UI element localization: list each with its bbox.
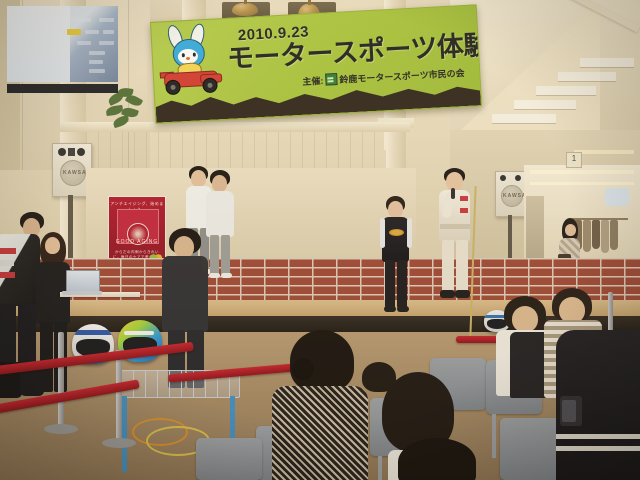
driver-suit-logo (389, 229, 404, 236)
right-ceiling-lights (574, 150, 634, 154)
barrier-post-base (44, 424, 78, 434)
laptop-base (62, 291, 102, 295)
leathers-sponsor-patch (0, 260, 14, 266)
leathers-sponsor-patch (0, 272, 15, 278)
poster-brand: GOOD AGING (109, 239, 165, 245)
chair[interactable] (500, 418, 564, 480)
suit-belt (440, 224, 470, 229)
race-car-icon (160, 65, 223, 94)
presentation-tv[interactable]: SONY (0, 0, 127, 99)
speaker-left-label: KAWSA (63, 170, 87, 176)
potted-plant (104, 88, 144, 134)
barrier-post-base (102, 438, 136, 448)
organizer-logo-icon (325, 73, 338, 86)
photo-scene: 2010.9.23 モータースポーツ体験フェア 主催:鈴鹿モータースポーツ市民の… (0, 0, 640, 480)
mirror-panel (526, 196, 544, 258)
mascot-icon (157, 27, 223, 98)
store-ceiling-light-2 (530, 182, 634, 185)
garment (610, 220, 618, 250)
store-number-sign: 1 (566, 152, 582, 168)
good-aging-poster: アンチエイジング、始めましょう。 GOOD AGING からだの内側からきれいに… (108, 196, 166, 266)
bell-left-icon (232, 3, 258, 16)
jacket-stripe (556, 434, 640, 439)
tv-highlight-cell (67, 29, 81, 35)
phone-icon (562, 400, 576, 422)
event-banner: 2010.9.23 モータースポーツ体験フェア 主催:鈴鹿モータースポーツ市民の… (150, 4, 482, 124)
chair[interactable] (196, 438, 262, 480)
suit-sponsor-patch (460, 208, 468, 213)
garment (583, 220, 591, 252)
garment (592, 220, 600, 249)
organizer-prefix: 主催: (302, 76, 324, 87)
chair-leg (378, 456, 382, 480)
speaker-right: KAWSA (495, 171, 527, 217)
basket-leg (122, 396, 127, 472)
microphone-icon[interactable] (202, 258, 207, 271)
store-poster-round (605, 188, 629, 206)
balcony-panel (86, 132, 386, 168)
store-ceiling-light (530, 170, 634, 174)
barrier-post (116, 350, 122, 442)
chair-leg (492, 414, 496, 458)
tv-brand-label: SONY (99, 75, 110, 80)
microphone-icon[interactable] (451, 188, 455, 199)
suit-sponsor-patch (460, 196, 468, 201)
leathers-sponsor-patch (0, 248, 16, 254)
jacket-stripe (556, 446, 640, 451)
hair-bun (292, 358, 314, 380)
garment (601, 220, 609, 253)
barrier-post (58, 332, 64, 428)
tv-bezel-bottom (7, 84, 118, 93)
tv-screen: SONY (7, 6, 118, 82)
